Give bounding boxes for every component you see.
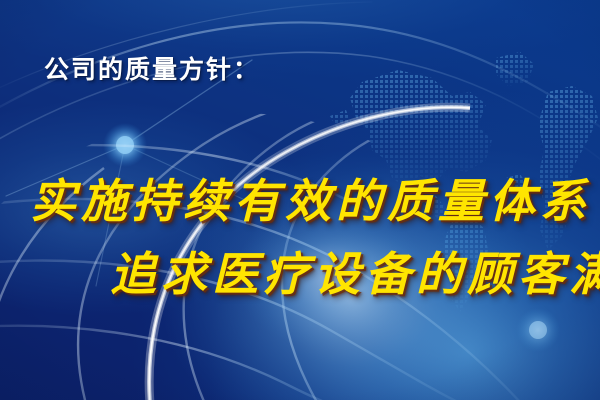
policy-line-1: 实施持续有效的质量体系 (30, 165, 591, 231)
banner-stage: 公司的质量方针： 实施持续有效的质量体系 追求医疗设备的顾客满意 (0, 0, 600, 400)
banner-text-block: 公司的质量方针： 实施持续有效的质量体系 追求医疗设备的顾客满意 (0, 0, 600, 400)
policy-line-2: 追求医疗设备的顾客满意 (110, 238, 600, 304)
page-title: 公司的质量方针： (44, 50, 260, 86)
